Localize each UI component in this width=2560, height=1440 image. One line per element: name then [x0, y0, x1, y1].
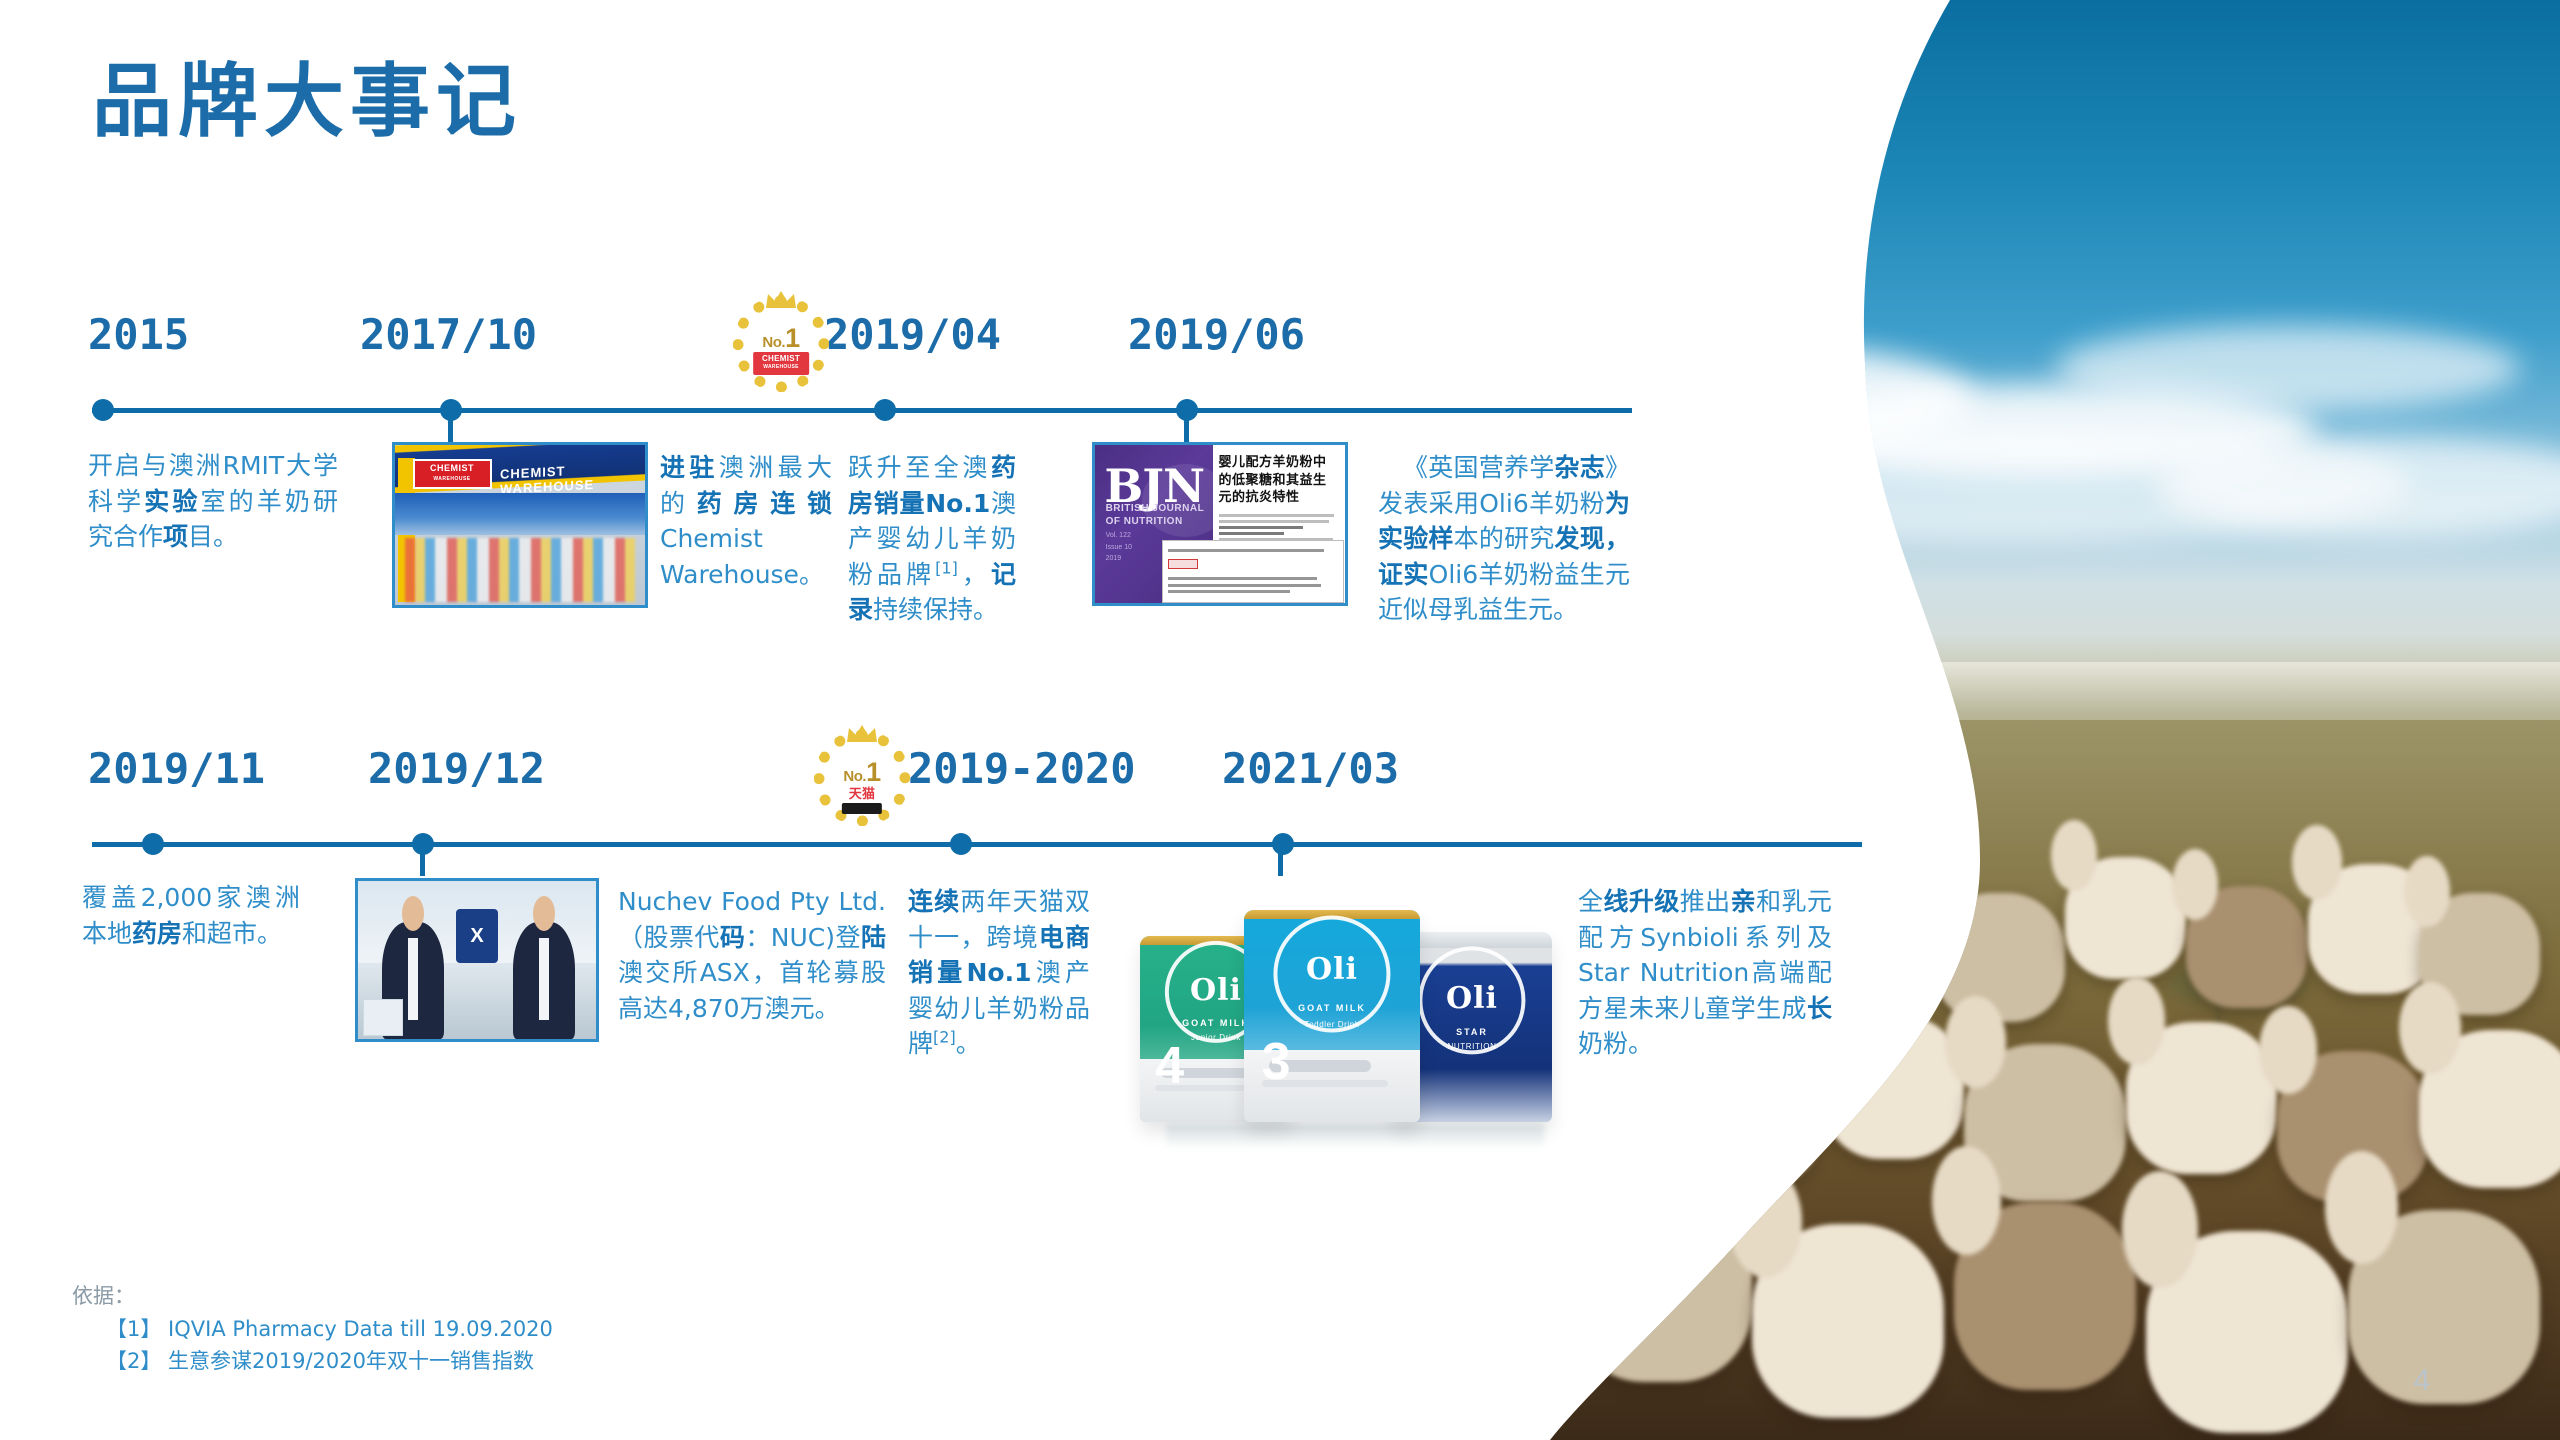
- badge-rank-label: No.1: [814, 759, 910, 786]
- tmall-cat-icon: [842, 803, 882, 815]
- nuchev-asx-photo: [355, 878, 599, 1042]
- event-date-2019-11: 2019/11: [88, 744, 265, 793]
- badge-rank-label: No.1: [733, 325, 829, 352]
- bjn-full-name: BRITISH JOURNAL OF NUTRITION: [1106, 502, 1213, 528]
- asx-logo: [456, 909, 499, 963]
- event-date-2019-06: 2019/06: [1128, 310, 1305, 359]
- event-body-2017-10: 进驻澳洲最大的药房连锁Chemist Warehouse。: [660, 450, 832, 592]
- event-date-2017-10: 2017/10: [360, 310, 537, 359]
- bjn-journal-photo: BJN BRITISH JOURNAL OF NUTRITION Vol. 12…: [1092, 442, 1348, 606]
- page-number: 4: [2413, 1364, 2430, 1398]
- timeline-stem-2019-06: [1184, 410, 1189, 442]
- footnotes-lead: 依据：: [72, 1280, 553, 1313]
- footnotes: 依据： 【1】 IQVIA Pharmacy Data till 19.09.2…: [72, 1280, 553, 1378]
- bjn-article-headline: 婴儿配方羊奶粉中的低聚糖和其益生元的抗炎特性: [1219, 453, 1340, 506]
- timeline-dot-2021-03: [1272, 833, 1294, 855]
- crown-icon: [764, 290, 798, 310]
- event-body-2015: 开启与澳洲RMIT大学科学实验室的羊奶研究合作项目。: [88, 448, 338, 555]
- event-body-2021-03: 全线升级推出亲和乳元配方Synbioli系列及Star Nutrition高端配…: [1578, 884, 1832, 1062]
- bjn-red-mark: [1168, 559, 1198, 569]
- person-right: [513, 922, 575, 1039]
- slide-canvas: 品牌大事记 2015 2017/10 2019/04 2019/06 No.1 …: [0, 0, 2560, 1440]
- chemist-logo: CHEMIST WAREHOUSE: [413, 459, 492, 489]
- page-title: 品牌大事记: [92, 62, 522, 142]
- product-can-3: Oli GOAT MILK Toddler Drink 3: [1244, 910, 1420, 1122]
- badge-plate: CHEMIST WAREHOUSE: [753, 352, 809, 375]
- event-body-2019-06: 《英国营养学杂志》发表采用Oli6羊奶粉为实验样本的研究发现，证实Oli6羊奶粉…: [1378, 450, 1630, 628]
- event-date-2015: 2015: [88, 310, 189, 359]
- clouds: [1550, 0, 2560, 662]
- timeline-stem-2017-10: [448, 410, 453, 442]
- event-body-2019-12: Nuchev Food Pty Ltd.（股票代码：NUC)登陆澳交所ASX，首…: [618, 884, 886, 1026]
- product-brand: Oli: [1244, 952, 1420, 987]
- event-body-2019-04: 跃升至全澳药房销量No.1澳产婴幼儿羊奶粉品牌[1]，记录持续保持。: [848, 450, 1016, 628]
- goat-farm-photo: [1550, 0, 2560, 1440]
- timeline-axis-row1: [92, 408, 1632, 413]
- timeline-stem-2019-12: [420, 844, 425, 876]
- bjn-article-page: 婴儿配方羊奶粉中的低聚糖和其益生元的抗炎特性: [1213, 445, 1346, 603]
- timeline-axis-row2: [92, 842, 1862, 847]
- event-body-2019-2020: 连续两年天猫双十一，跨境电商销量No.1澳产婴幼儿羊奶粉品牌[2]。: [908, 884, 1090, 1062]
- event-body-2019-11: 覆盖2,000家澳洲本地药房和超市。: [82, 880, 300, 951]
- chemist-warehouse-photo: CHEMIST WAREHOUSE CHEMIST WAREHOUSE: [392, 442, 648, 608]
- event-date-2021-03: 2021/03: [1222, 744, 1399, 793]
- product-line1: GOAT MILK: [1244, 1003, 1420, 1013]
- timeline-dot-2019-2020: [950, 833, 972, 855]
- event-date-2019-2020: 2019-2020: [908, 744, 1136, 793]
- timeline-dot-2015: [92, 399, 114, 421]
- product-line2: Toddler Drink: [1244, 1020, 1420, 1029]
- no1-chemist-badge: No.1 CHEMIST WAREHOUSE: [733, 296, 829, 392]
- crown-icon: [845, 724, 879, 744]
- timeline-dot-2019-11: [142, 833, 164, 855]
- event-date-2019-12: 2019/12: [368, 744, 545, 793]
- event-date-2019-04: 2019/04: [824, 310, 1001, 359]
- oli6-product-cans-photo: Oli GOAT MILK Junior Drink 4 Oli GOAT MI…: [1140, 880, 1570, 1150]
- footnote-item-2: 【2】 生意参谋2019/2020年双十一销售指数: [72, 1345, 553, 1378]
- footnote-item-1: 【1】 IQVIA Pharmacy Data till 19.09.2020: [72, 1313, 553, 1346]
- product-stage-number: 3: [1262, 1036, 1291, 1088]
- no1-tmall-badge: No.1 天猫 TMALL.COM: [814, 730, 910, 826]
- product-stage-number: 4: [1155, 1040, 1184, 1092]
- field: [1550, 720, 2560, 1440]
- bjn-highlight-box: [1162, 540, 1344, 603]
- timeline-dot-2019-04: [874, 399, 896, 421]
